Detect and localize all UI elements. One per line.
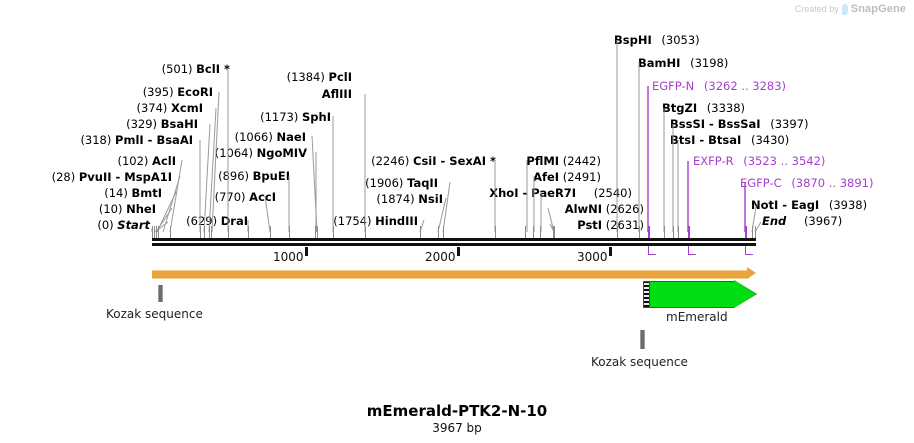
ruler-label-3000: 3000 xyxy=(577,250,608,264)
enzyme-label-bamhi[interactable]: BamHI (3198) xyxy=(638,57,728,70)
feature-caption-kozak-right: Kozak sequence xyxy=(591,355,688,369)
feature-bracket-exfp-r xyxy=(688,246,696,255)
gene-arrow-hatch-edge xyxy=(643,281,650,308)
enzyme-label-xhoi-paer7i[interactable]: XhoI - PaeR7I (2540) xyxy=(460,187,632,200)
ruler-tick-1000 xyxy=(305,247,308,256)
enzyme-label-btsi-btsai[interactable]: BtsI - BtsaI (3430) xyxy=(670,134,789,147)
enzyme-label-bsphi[interactable]: BspHI (3053) xyxy=(614,34,700,47)
cut-tick xyxy=(554,226,555,238)
enzyme-label-bsahi[interactable]: (329) BsaHI xyxy=(0,118,198,131)
enzyme-label-acci[interactable]: (770) AccI xyxy=(180,191,276,204)
cut-tick xyxy=(495,226,496,238)
feature-caption-kozak-left: Kozak sequence xyxy=(106,307,203,321)
ruler-label-2000: 2000 xyxy=(425,250,456,264)
enzyme-label-pflmi[interactable]: PflMI (2442) xyxy=(460,155,601,168)
cut-tick xyxy=(270,226,271,238)
cut-tick xyxy=(315,226,316,238)
feature-bracket-egfp-n xyxy=(648,246,656,255)
feature-tick-kozak-left[interactable] xyxy=(158,285,163,302)
cut-tick xyxy=(156,226,157,238)
enzyme-label-end[interactable]: End (3967) xyxy=(762,215,842,228)
gene-arrow-memerald[interactable] xyxy=(643,281,756,308)
cut-tick xyxy=(152,226,153,238)
cut-tick xyxy=(333,226,334,238)
cut-tick xyxy=(211,226,212,238)
cut-tick xyxy=(289,226,290,238)
enzyme-label-start[interactable]: (0) Start xyxy=(0,219,150,232)
cut-tick xyxy=(228,226,229,238)
feature-tick-kozak-right[interactable] xyxy=(640,330,645,349)
cut-tick xyxy=(752,226,753,238)
translation-arrow-head-icon xyxy=(747,267,756,279)
cut-tick xyxy=(673,226,674,238)
enzyme-label-noti-eagi[interactable]: NotI - EagI (3938) xyxy=(751,199,867,212)
ruler-tick-3000 xyxy=(609,247,612,256)
cut-tick xyxy=(209,226,210,238)
enzyme-label-nhei[interactable]: (10) NheI xyxy=(0,203,156,216)
watermark-brand: SnapGene xyxy=(851,3,906,15)
cut-tick xyxy=(617,226,618,238)
enzyme-label-alwni[interactable]: AlwNI (2626) xyxy=(460,203,644,216)
feature-tick-exfp-r xyxy=(688,226,690,238)
snapgene-watermark: Created by SnapGene xyxy=(795,3,906,15)
cut-tick xyxy=(678,226,679,238)
backbone-bottom-strand xyxy=(152,243,756,246)
ruler-tick-2000 xyxy=(457,247,460,256)
watermark-prefix: Created by xyxy=(795,4,839,14)
enzyme-label-naei[interactable]: (1066) NaeI xyxy=(180,131,306,144)
plasmid-map-canvas: Created by SnapGene (501) BclI * (395) E… xyxy=(0,0,914,443)
enzyme-label-sphi[interactable]: (1173) SphI xyxy=(180,111,331,124)
feature-bracket-egfp-c xyxy=(745,246,753,255)
enzyme-label-pmli-bsaai[interactable]: (318) PmlI - BsaAI xyxy=(0,134,193,147)
enzyme-label-bpuei[interactable]: (896) BpuEI xyxy=(180,170,290,183)
gene-arrow-body xyxy=(643,281,735,308)
cut-tick xyxy=(420,226,421,238)
page-subtitle: 3967 bp xyxy=(0,421,914,435)
cut-tick xyxy=(525,226,526,238)
feature-label-egfp-n[interactable]: EGFP-N (3262 .. 3283) xyxy=(652,80,786,93)
cut-tick xyxy=(365,226,366,238)
cut-tick xyxy=(533,226,534,238)
cut-tick xyxy=(204,226,205,238)
cut-tick xyxy=(540,226,541,238)
cut-tick xyxy=(755,226,756,238)
feature-label-egfp-c[interactable]: EGFP-C (3870 .. 3891) xyxy=(740,177,873,190)
cut-tick xyxy=(200,226,201,238)
ruler-label-1000: 1000 xyxy=(273,250,304,264)
cut-tick xyxy=(664,226,665,238)
gene-arrow-head-icon xyxy=(734,280,756,308)
page-title: mEmerald-PTK2-N-10 xyxy=(0,402,914,420)
feature-caption-memerald: mEmerald xyxy=(666,310,728,324)
snapgene-logo-icon xyxy=(842,4,848,15)
cut-tick xyxy=(443,226,444,238)
enzyme-label-acli[interactable]: (102) AclI xyxy=(0,155,176,168)
cut-tick xyxy=(317,226,318,238)
feature-tick-egfp-c xyxy=(745,226,747,238)
enzyme-label-pvuii-mspa1i[interactable]: (28) PvuII - MspA1I xyxy=(0,171,172,184)
enzyme-label-bsssi-bsssai[interactable]: BssSI - BssSaI (3397) xyxy=(670,118,808,131)
enzyme-label-btgzi[interactable]: BtgZI (3338) xyxy=(662,102,745,115)
feature-label-exfp-r[interactable]: EXFP-R (3523 .. 3542) xyxy=(693,155,825,168)
cut-tick xyxy=(639,226,640,238)
enzyme-label-pcli[interactable]: (1384) PclI xyxy=(180,71,352,84)
enzyme-label-xcmi[interactable]: (374) XcmI xyxy=(0,102,203,115)
translation-arrow[interactable] xyxy=(152,270,748,279)
enzyme-label-afliii[interactable]: AflIII xyxy=(180,88,352,101)
feature-tick-egfp-n xyxy=(648,226,650,238)
cut-tick xyxy=(170,226,171,238)
enzyme-label-nsii[interactable]: (1874) NsiI xyxy=(280,193,443,206)
cut-tick xyxy=(154,226,155,238)
cut-tick xyxy=(158,226,159,238)
enzyme-label-bmti[interactable]: (14) BmtI xyxy=(0,187,162,200)
enzyme-label-hindiii[interactable]: (1754) HindIII xyxy=(280,215,418,228)
cut-tick xyxy=(438,226,439,238)
enzyme-label-taqii[interactable]: (1906) TaqII xyxy=(280,177,438,190)
enzyme-label-afei[interactable]: AfeI (2491) xyxy=(460,171,601,184)
cut-tick xyxy=(248,226,249,238)
